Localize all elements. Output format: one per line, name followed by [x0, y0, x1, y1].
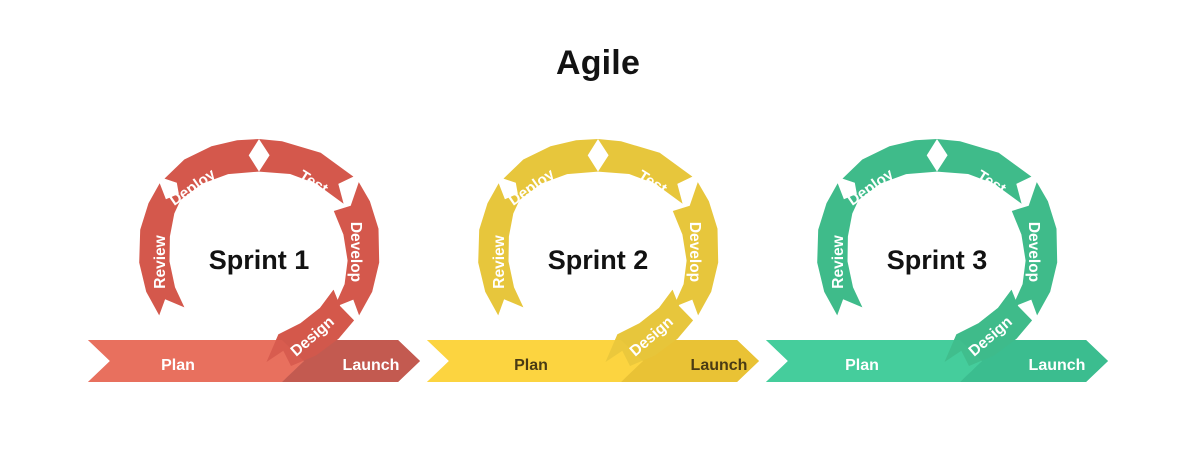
banner-overlay-plan-1 — [88, 340, 304, 382]
cycle-group-sprint-1: Test Develop Design Review Deploy Plan L… — [88, 139, 420, 382]
ring-label-develop-1: Develop — [347, 222, 364, 282]
ring-label-review-3: Review — [830, 234, 847, 288]
banner-label-launch-1: Launch — [343, 357, 400, 374]
agile-cycles-svg: Test Develop Design Review Deploy Plan L… — [0, 0, 1196, 464]
cycle-group-sprint-2: Test Develop Design Review Deploy Plan L… — [427, 139, 759, 382]
ring-label-review-1: Review — [152, 234, 169, 288]
banner-label-plan-2: Plan — [514, 357, 548, 374]
cycle-center-label-3: Sprint 3 — [887, 245, 988, 275]
agile-diagram-canvas: Agile — [0, 0, 1196, 464]
ring-label-develop-3: Develop — [1025, 222, 1042, 282]
cycle-group-sprint-3: Test Develop Design Review Deploy Plan L… — [766, 139, 1108, 382]
cycle-center-label-1: Sprint 1 — [209, 245, 310, 275]
banner-label-plan-1: Plan — [161, 357, 195, 374]
banner-label-launch-2: Launch — [691, 357, 748, 374]
ring-label-develop-2: Develop — [686, 222, 703, 282]
banner-label-launch-3: Launch — [1029, 357, 1086, 374]
ring-label-review-2: Review — [491, 234, 508, 288]
banner-label-plan-3: Plan — [845, 357, 879, 374]
cycle-center-label-2: Sprint 2 — [548, 245, 649, 275]
